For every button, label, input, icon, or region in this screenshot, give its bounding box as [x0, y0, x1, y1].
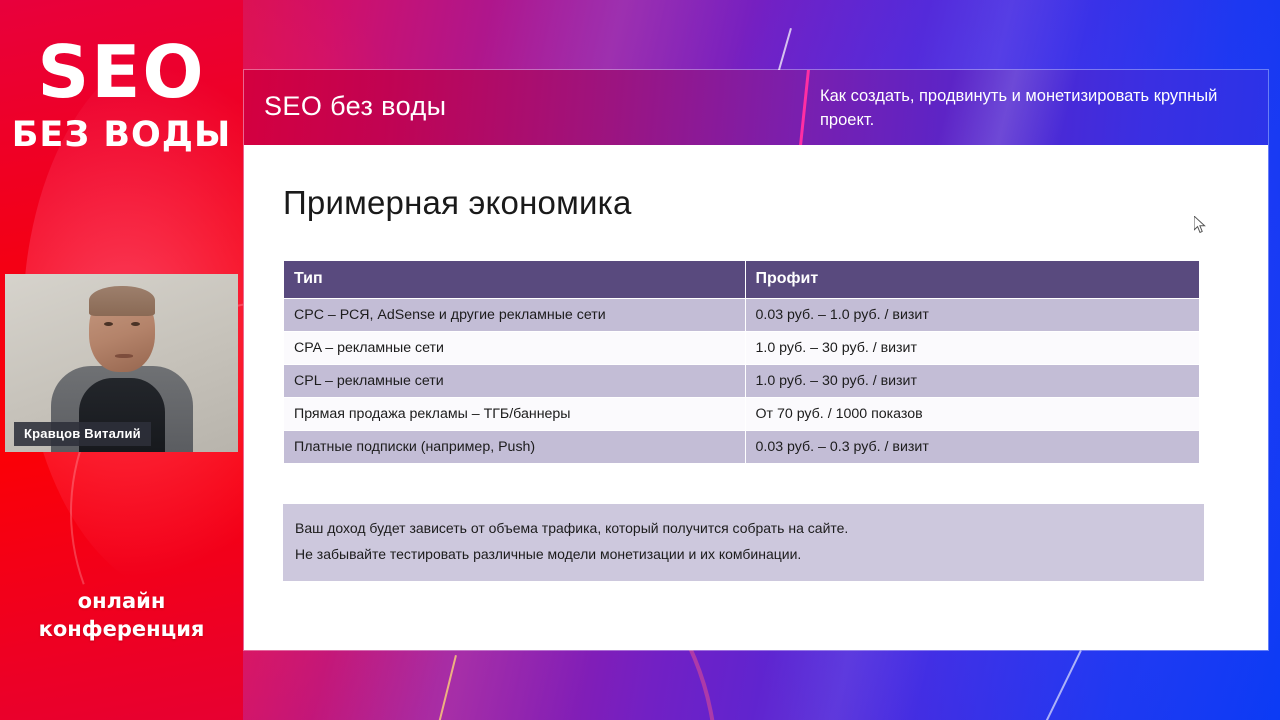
webcam-person-mouth — [115, 354, 133, 358]
left-branding-panel: SEO БЕЗ ВОДЫ Кравцов Виталий онлайн конф… — [0, 0, 243, 720]
table-body: CPC – РСЯ, AdSense и другие рекламные се… — [284, 299, 1200, 464]
column-header-type: Тип — [284, 261, 746, 299]
summary-note-box: Ваш доход будет зависеть от объема трафи… — [283, 504, 1204, 581]
table-row: Прямая продажа рекламы – ТГБ/баннеры От … — [284, 398, 1200, 431]
webcam-person-eye-left — [104, 322, 113, 326]
table-row: CPA – рекламные сети 1.0 руб. – 30 руб. … — [284, 332, 1200, 365]
page-title: Примерная экономика — [283, 184, 632, 222]
economics-table: Тип Профит CPC – РСЯ, AdSense и другие р… — [283, 260, 1200, 464]
cell-profit: 1.0 руб. – 30 руб. / визит — [745, 365, 1200, 398]
slide-header-bar: SEO без воды Как создать, продвинуть и м… — [244, 70, 1268, 145]
webcam-person-eye-right — [131, 322, 140, 326]
cell-profit: 1.0 руб. – 30 руб. / визит — [745, 332, 1200, 365]
speaker-name-badge: Кравцов Виталий — [14, 422, 151, 446]
logo-main-text: SEO — [0, 36, 243, 108]
cell-profit: 0.03 руб. – 1.0 руб. / визит — [745, 299, 1200, 332]
table-row: CPC – РСЯ, AdSense и другие рекламные се… — [284, 299, 1200, 332]
column-header-profit: Профит — [745, 261, 1200, 299]
table-row: CPL – рекламные сети 1.0 руб. – 30 руб. … — [284, 365, 1200, 398]
cell-profit: 0.03 руб. – 0.3 руб. / визит — [745, 431, 1200, 464]
presentation-slide[interactable]: SEO без воды Как создать, продвинуть и м… — [244, 70, 1268, 650]
cell-profit: От 70 руб. / 1000 показов — [745, 398, 1200, 431]
cell-type: Платные подписки (например, Push) — [284, 431, 746, 464]
speaker-webcam-tile[interactable]: Кравцов Виталий — [5, 274, 238, 452]
cell-type: CPA – рекламные сети — [284, 332, 746, 365]
cell-type: CPC – РСЯ, AdSense и другие рекламные се… — [284, 299, 746, 332]
caption-line-2: конференция — [0, 616, 243, 644]
slide-brand-title: SEO без воды — [264, 91, 446, 122]
logo-sub-text: БЕЗ ВОДЫ — [0, 118, 243, 153]
conference-caption: онлайн конференция — [0, 588, 243, 644]
cell-type: CPL – рекламные сети — [284, 365, 746, 398]
slide-header-tagline: Как создать, продвинуть и монетизировать… — [820, 85, 1250, 133]
table-row: Платные подписки (например, Push) 0.03 р… — [284, 431, 1200, 464]
table-head: Тип Профит — [284, 261, 1200, 299]
slide-header-streak — [796, 70, 810, 145]
cell-type: Прямая продажа рекламы – ТГБ/баннеры — [284, 398, 746, 431]
table-header-row: Тип Профит — [284, 261, 1200, 299]
note-line-2: Не забывайте тестировать различные модел… — [295, 542, 1192, 568]
conference-logo: SEO БЕЗ ВОДЫ — [0, 36, 243, 153]
caption-line-1: онлайн — [0, 588, 243, 616]
webcam-person-hair — [89, 286, 155, 316]
note-line-1: Ваш доход будет зависеть от объема трафи… — [295, 516, 1192, 542]
screen: SEO БЕЗ ВОДЫ Кравцов Виталий онлайн конф… — [0, 0, 1280, 720]
